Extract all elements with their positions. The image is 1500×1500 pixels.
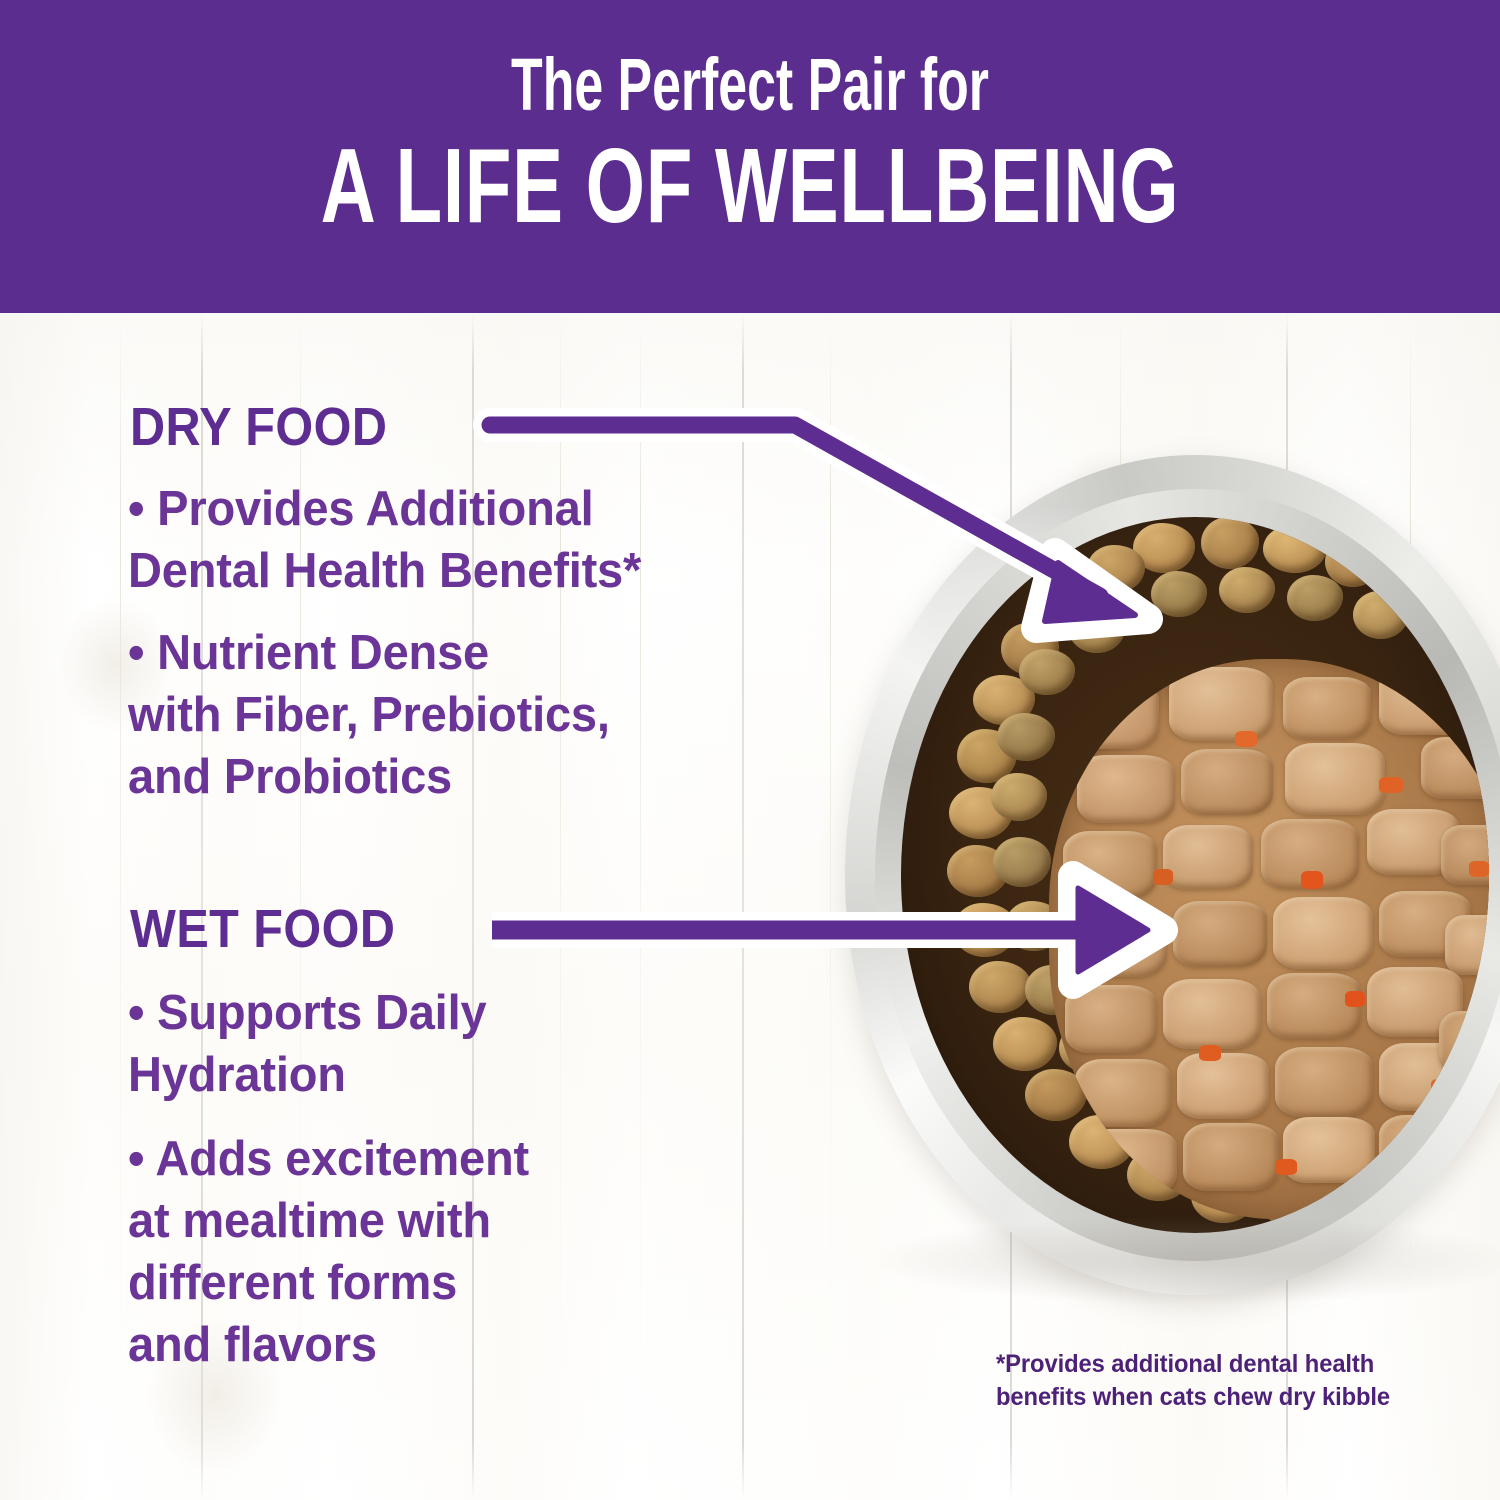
- kibble-piece: [969, 961, 1031, 1013]
- banner-title: A LIFE OF WELLBEING: [210, 130, 1290, 242]
- kibble-piece: [1069, 607, 1125, 653]
- wet-food-chunk: [1445, 915, 1489, 975]
- kibble-piece: [1019, 649, 1075, 695]
- dry-food-bullet-2: • Nutrient Dense with Fiber, Prebiotics,…: [128, 622, 800, 808]
- bowl-interior: [901, 517, 1489, 1233]
- wood-grain-line: [120, 313, 121, 1500]
- wet-food-bullet-1: • Supports Daily Hydration: [128, 982, 800, 1106]
- wet-food-chunk: [1077, 755, 1175, 823]
- carrot-bit: [1431, 1079, 1451, 1095]
- carrot-bit: [1379, 777, 1403, 793]
- wet-food-chunk: [1063, 831, 1157, 899]
- bullet-line: • Provides Additional: [128, 478, 800, 540]
- kibble-piece: [1219, 567, 1275, 613]
- carrot-bit: [1235, 731, 1257, 747]
- bowl-drop-shadow: [865, 1215, 1500, 1305]
- kibble-piece: [1263, 525, 1327, 573]
- wet-food-chunk: [1065, 985, 1157, 1053]
- wet-food-chunk: [1275, 1047, 1373, 1117]
- kibble-piece: [1429, 609, 1489, 661]
- wet-food-gravy: [1049, 659, 1489, 1219]
- wet-food-chunk: [1177, 1053, 1269, 1119]
- wet-food-chunk: [1439, 1011, 1489, 1073]
- kibble-piece: [1201, 517, 1259, 569]
- wet-food-chunk: [1163, 979, 1261, 1049]
- kibble-piece: [991, 773, 1047, 821]
- bullet-line: and flavors: [128, 1314, 800, 1376]
- wet-food-chunk: [1421, 737, 1489, 799]
- banner-subtitle: The Perfect Pair for: [225, 46, 1275, 124]
- bullet-line: • Adds excitement: [128, 1128, 800, 1190]
- bullet-line: and Probiotics: [128, 746, 800, 808]
- kibble-piece: [1353, 591, 1409, 639]
- infographic-root: The Perfect Pair for A LIFE OF WELLBEING: [0, 0, 1500, 1500]
- carrot-bit: [1301, 871, 1323, 889]
- kibble-piece: [993, 1017, 1057, 1071]
- kibble-piece: [1087, 545, 1145, 593]
- carrot-bit: [1345, 991, 1365, 1007]
- cat-food-bowl-photo: [845, 455, 1500, 1295]
- carrot-bit: [1275, 1159, 1297, 1175]
- footnote: *Provides additional dental health benef…: [996, 1348, 1433, 1414]
- bullet-line: • Nutrient Dense: [128, 622, 800, 684]
- dry-food-heading: DRY FOOD: [130, 398, 387, 456]
- wet-food-chunk: [1173, 901, 1267, 967]
- wet-food-chunk: [1379, 1115, 1473, 1181]
- wet-food-chunk: [1083, 1129, 1177, 1195]
- wet-food-chunk: [1183, 1123, 1279, 1191]
- wet-food-chunk: [1169, 667, 1273, 741]
- wet-food-chunk: [1285, 743, 1385, 815]
- header-banner: The Perfect Pair for A LIFE OF WELLBEING: [0, 0, 1500, 313]
- wet-food-chunk: [1067, 683, 1159, 749]
- kibble-piece: [997, 713, 1055, 761]
- bullet-line: with Fiber, Prebiotics,: [128, 684, 800, 746]
- wet-food-chunk: [1163, 825, 1253, 889]
- wet-food-chunk: [1075, 1059, 1171, 1127]
- wet-food-bullet-2: • Adds excitement at mealtime with diffe…: [128, 1128, 800, 1376]
- wet-food-chunk: [1283, 1117, 1375, 1183]
- bullet-line: Dental Health Benefits*: [128, 540, 800, 602]
- bullet-line: different forms: [128, 1252, 800, 1314]
- bullet-line: Hydration: [128, 1044, 800, 1106]
- footnote-line: benefits when cats chew dry kibble: [996, 1381, 1433, 1414]
- carrot-bit: [1469, 861, 1489, 877]
- wood-grain-line: [830, 313, 831, 1500]
- bullet-line: • Supports Daily: [128, 982, 800, 1044]
- wet-food-chunk: [1379, 665, 1475, 735]
- dry-food-bullet-1: • Provides Additional Dental Health Bene…: [128, 478, 800, 602]
- kibble-piece: [993, 837, 1051, 887]
- carrot-bit: [1153, 869, 1173, 885]
- wet-food-heading: WET FOOD: [130, 900, 395, 958]
- kibble-piece: [1151, 571, 1207, 617]
- bullet-line: at mealtime with: [128, 1190, 800, 1252]
- wet-food-chunk: [1273, 897, 1373, 969]
- wet-food-chunk: [1283, 677, 1371, 739]
- wet-food-chunk: [1181, 749, 1273, 815]
- carrot-bit: [1199, 1045, 1221, 1061]
- footnote-line: *Provides additional dental health: [996, 1348, 1433, 1381]
- wet-food-chunk: [1071, 907, 1167, 977]
- kibble-piece: [1287, 575, 1343, 621]
